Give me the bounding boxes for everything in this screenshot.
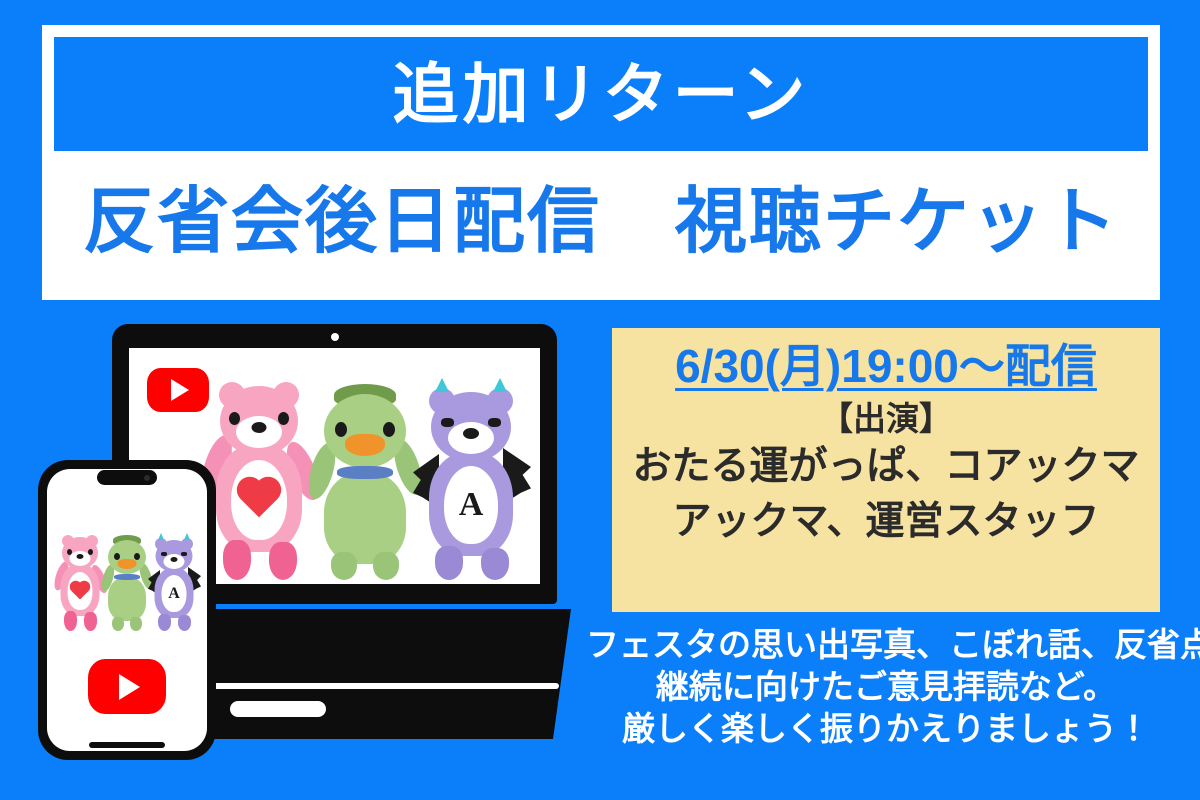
leg-left — [435, 546, 463, 580]
leg-left — [223, 540, 251, 580]
beak — [345, 434, 385, 456]
nose — [171, 557, 178, 562]
mascot-akuma: A — [151, 532, 197, 631]
eye-left — [441, 418, 454, 427]
leg-right — [373, 552, 399, 580]
eye-right — [488, 418, 501, 427]
leg-right — [130, 617, 142, 631]
mascot-koakuma — [57, 531, 103, 631]
eye-left — [335, 422, 347, 437]
leg-right — [269, 542, 297, 580]
front-camera-dot — [144, 475, 150, 481]
youtube-play-icon[interactable] — [88, 659, 166, 714]
promo-poster: 追加リターン 反省会後日配信 視聴チケット — [0, 0, 1200, 800]
eye-right — [278, 412, 289, 425]
eye-right — [181, 552, 187, 556]
horn-left — [435, 378, 449, 392]
device-illustration: A — [0, 312, 600, 782]
nose — [252, 422, 267, 433]
horn-right — [493, 378, 507, 392]
youtube-play-icon[interactable] — [147, 368, 209, 412]
leg-left — [331, 552, 357, 580]
phone-screen: A — [47, 469, 207, 751]
leg-left — [112, 617, 124, 631]
description-line-1: フェスタの思い出写真、こぼれ話、反省点 — [586, 624, 1186, 666]
scarf — [337, 466, 393, 479]
eye-left — [67, 549, 72, 555]
mascot-koakuma — [207, 374, 311, 580]
beak — [118, 559, 137, 569]
laptop-trackpad-notch — [230, 701, 326, 717]
cast-line-1: おたる運がっぱ、コアックマ — [632, 442, 1139, 493]
body — [324, 472, 406, 564]
broadcast-info-panel: 6/30(月)19:00〜配信 【出演】 おたる運がっぱ、コアックマ アックマ、… — [612, 328, 1160, 612]
description-line-2: 継続に向けたご意見拝読など。 — [586, 666, 1186, 708]
cast-label: 【出演】 — [820, 399, 952, 439]
mascot-akuma: A — [419, 376, 523, 580]
eye-right — [88, 549, 93, 555]
header-title-band: 追加リターン — [54, 37, 1148, 151]
nose — [77, 554, 84, 559]
mascot-otaru-ungappa — [104, 533, 150, 631]
eye-left — [229, 412, 240, 425]
smartphone-mockup: A — [38, 460, 216, 760]
play-triangle — [119, 674, 140, 700]
a-mark: A — [459, 488, 484, 522]
eye-right — [134, 553, 140, 560]
scarf — [114, 574, 140, 580]
header-frame: 追加リターン 反省会後日配信 視聴チケット — [42, 25, 1160, 300]
broadcast-date-time: 6/30(月)19:00〜配信 — [675, 340, 1097, 393]
leg-right — [84, 612, 97, 631]
mascot-group-laptop: A — [205, 368, 525, 580]
dynamic-island — [97, 470, 157, 485]
horn-left — [158, 533, 164, 540]
leg-left — [64, 611, 77, 631]
webcam-dot — [331, 333, 339, 341]
page-subtitle: 反省会後日配信 視聴チケット — [83, 186, 1119, 258]
eye-left — [161, 552, 167, 556]
mascot-group-phone: A — [53, 527, 201, 631]
body — [108, 577, 146, 621]
mascot-otaru-ungappa — [313, 380, 417, 580]
leg-right — [481, 548, 509, 580]
description-line-3: 厳しく楽しく振りかえりましょう！ — [586, 708, 1186, 750]
play-triangle — [171, 379, 189, 401]
header-subtitle-band: 反省会後日配信 視聴チケット — [54, 157, 1148, 287]
leg-left — [158, 614, 171, 631]
eye-right — [383, 422, 395, 437]
page-title: 追加リターン — [393, 61, 810, 127]
a-mark: A — [168, 586, 180, 602]
horn-right — [184, 533, 190, 540]
leg-right — [178, 615, 191, 631]
nose — [463, 428, 479, 439]
eye-left — [114, 553, 120, 560]
description-block: フェスタの思い出写真、こぼれ話、反省点 継続に向けたご意見拝読など。 厳しく楽し… — [586, 624, 1186, 751]
home-indicator-bar — [89, 742, 165, 748]
cast-line-2: アックマ、運営スタッフ — [672, 497, 1099, 548]
